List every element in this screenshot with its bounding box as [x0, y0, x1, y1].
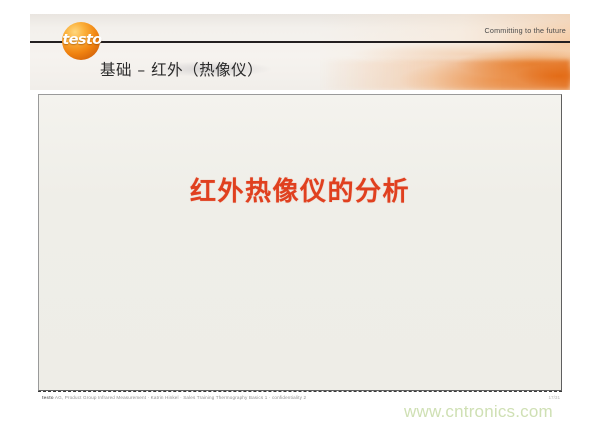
content-background: 红外热像仪的分析 [39, 95, 561, 390]
footer-credit: testo AG, Product Group Infrared Measure… [42, 395, 306, 400]
slide-title: 基础 – 红外（热像仪） [100, 58, 263, 80]
presentation-slide: Committing to the future testo 基础 – 红外（热… [30, 14, 570, 396]
footer-divider [38, 391, 562, 392]
main-heading: 红外热像仪的分析 [39, 171, 561, 208]
testo-logo: testo [62, 22, 100, 60]
header-divider-rule [30, 41, 570, 43]
slide-page-number: 17/31 [549, 395, 561, 400]
site-watermark: www.cntronics.com [404, 402, 553, 422]
testo-wordmark: testo [58, 33, 106, 48]
company-tagline: Committing to the future [484, 26, 566, 35]
footer-credit-rest: AG, Product Group Infrared Measurement ·… [54, 395, 306, 400]
slide-content-panel: 红外热像仪的分析 [38, 94, 562, 391]
footer-credit-brand: testo [42, 395, 54, 400]
